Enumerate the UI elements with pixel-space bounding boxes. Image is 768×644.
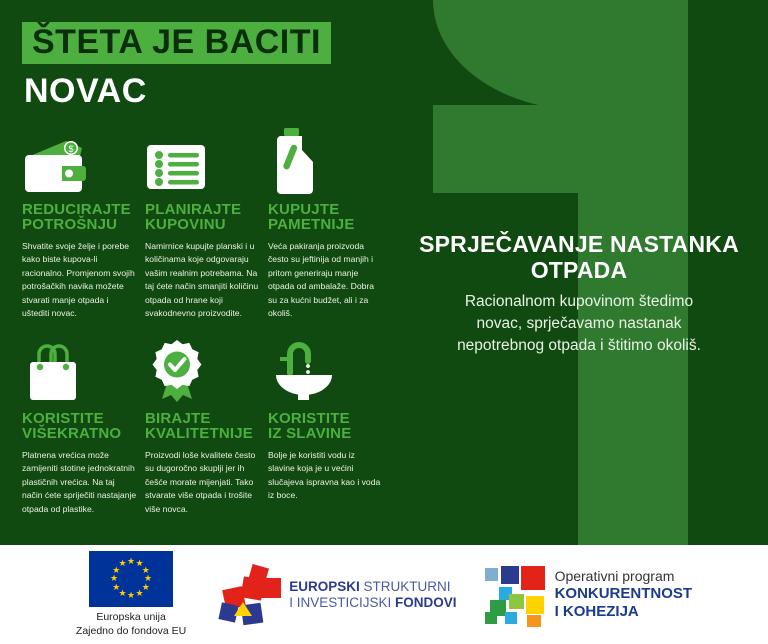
op-text-line3: I KOHEZIJA [555, 603, 693, 621]
tip-card-body: Proizvodi loše kvalitete često su dugoro… [145, 449, 260, 517]
op-square-lightblue-1 [485, 568, 498, 581]
esi-logo-text: EUROPSKI STRUKTURNI I INVESTICIJSKI FOND… [289, 579, 456, 611]
op-text-line2: KONKURENTNOST [555, 585, 693, 603]
op-logo-text: Operativni program KONKURENTNOST I KOHEZ… [555, 568, 693, 621]
tip-card-title: REDUCIRAJTE POTROŠNJU [22, 202, 137, 233]
tips-row-1: $ REDUCIRAJTE POTROŠNJU Shvatite svoje ž… [22, 128, 390, 321]
esi-funds-logo: EUROPSKI STRUKTURNI I INVESTICIJSKI FOND… [220, 566, 456, 624]
numeral-serif-shape [433, 0, 583, 110]
tote-bag-icon [22, 337, 137, 403]
checklist-icon [145, 128, 260, 194]
op-square-green-2 [485, 612, 497, 624]
esi-line2-thin: I INVESTICIJSKI [289, 595, 391, 610]
op-square-cyan-2 [505, 612, 517, 624]
faucet-sink-icon [268, 337, 383, 403]
esi-text-line2: I INVESTICIJSKI FONDOVI [289, 595, 456, 611]
right-panel-body: Racionalnom kupovinom štedimo novac, spr… [398, 291, 760, 357]
right-panel-body-line1: Racionalnom kupovinom štedimo [398, 291, 760, 313]
tip-title-line1: REDUCIRAJTE [22, 202, 137, 217]
tip-card-body: Bolje je koristiti vodu iz slavine koja … [268, 449, 383, 503]
page-title-highlight: ŠTETA JE BACITI [22, 22, 331, 64]
tip-card-body: Namirnice kupujte planski i u količinama… [145, 240, 260, 321]
esi-square-red-3 [261, 578, 281, 598]
tip-card-title: KORISTITE VIŠEKRATNO [22, 411, 137, 442]
eu-star-icon: ★ [110, 574, 119, 583]
tip-card-title: BIRAJTE KVALITETNIJE [145, 411, 260, 442]
op-square-red-1 [521, 566, 545, 590]
tip-title-line2: VIŠEKRATNO [22, 426, 137, 441]
right-panel-body-line2: novac, sprječavamo nastanak [398, 313, 760, 335]
tip-title-line2: IZ SLAVINE [268, 426, 383, 441]
eu-caption-line2: Zajedno do fondova EU [76, 625, 186, 639]
op-square-orange-1 [527, 615, 541, 627]
svg-text:$: $ [68, 144, 73, 154]
esi-line1-thin: STRUKTURNI [364, 579, 451, 594]
esi-line1-bold: EUROPSKI [289, 579, 360, 594]
tip-card-koristite-visekratno: KORISTITE VIŠEKRATNO Platnena vrećica mo… [22, 337, 137, 516]
tip-card-title: KORISTITE IZ SLAVINE [268, 411, 383, 442]
tip-title-line1: KORISTITE [268, 411, 383, 426]
footer-logo-bar: ★★★★★★★★★★★★ Europska unija Zajedno do f… [0, 545, 768, 644]
tip-title-line1: BIRAJTE [145, 411, 260, 426]
right-message-panel: SPRJEČAVANJE NASTANKA OTPADA Racionalnom… [398, 232, 760, 357]
tips-row-2: KORISTITE VIŠEKRATNO Platnena vrećica mo… [22, 337, 390, 516]
tip-card-body: Shvatite svoje želje i porebe kako biste… [22, 240, 137, 321]
numeral-foot-shape [433, 105, 588, 193]
operational-program-logo: Operativni program KONKURENTNOST I KOHEZ… [485, 566, 693, 624]
op-square-darkblue-1 [501, 566, 519, 584]
esi-text-line1: EUROPSKI STRUKTURNI [289, 579, 456, 595]
tip-title-line1: KUPUJTE [268, 202, 383, 217]
poster-header: ŠTETA JE BACITI NOVAC [22, 22, 442, 108]
eu-star-icon: ★ [112, 583, 121, 592]
jug-bottle-icon [268, 128, 383, 194]
right-panel-title-line1: SPRJEČAVANJE NASTANKA [398, 232, 760, 258]
tip-title-line2: POTROŠNJU [22, 217, 137, 232]
right-panel-title-line2: OTPADA [398, 258, 760, 284]
esi-mosaic-icon [220, 566, 282, 624]
tips-grid: $ REDUCIRAJTE POTROŠNJU Shvatite svoje ž… [22, 128, 390, 517]
eu-logo: ★★★★★★★★★★★★ Europska unija Zajedno do f… [76, 551, 186, 639]
op-square-lightgreen-1 [509, 594, 524, 609]
logo-row: ★★★★★★★★★★★★ Europska unija Zajedno do f… [76, 551, 692, 639]
infographic-poster: ŠTETA JE BACITI NOVAC $ [0, 0, 768, 644]
quality-badge-icon [145, 337, 260, 403]
op-square-yellow-1 [526, 596, 544, 614]
right-panel-body-line3: nepotrebnog otpada i štitimo okoliš. [398, 335, 760, 357]
page-title-sub: NOVAC [22, 74, 442, 108]
op-text-line1: Operativni program [555, 568, 693, 585]
tip-title-line1: PLANIRAJTE [145, 202, 260, 217]
tip-card-body: Veća pakiranja proizvoda često su jeftin… [268, 240, 383, 321]
tip-card-birajte-kvalitetnije: BIRAJTE KVALITETNIJE Proizvodi loše kval… [145, 337, 260, 516]
eu-star-icon: ★ [118, 559, 127, 568]
esi-line2-bold: FONDOVI [395, 595, 457, 610]
tip-title-line2: KVALITETNIJE [145, 426, 260, 441]
tip-title-line2: KUPOVINU [145, 217, 260, 232]
tip-title-line2: PAMETNIJE [268, 217, 383, 232]
eu-flag-icon: ★★★★★★★★★★★★ [89, 551, 173, 607]
op-mosaic-icon [485, 566, 545, 624]
tip-card-body: Platnena vrećica može zamijeniti stotine… [22, 449, 137, 517]
eu-star-icon: ★ [127, 591, 136, 600]
tip-card-reducirajte-potrosnju: $ REDUCIRAJTE POTROŠNJU Shvatite svoje ž… [22, 128, 137, 321]
eu-caption-line1: Europska unija [76, 611, 186, 625]
tip-card-title: PLANIRAJTE KUPOVINU [145, 202, 260, 233]
tip-card-kupujte-pametnije: KUPUJTE PAMETNIJE Veća pakiranja proizvo… [268, 128, 383, 321]
wallet-icon: $ [22, 128, 137, 194]
esi-star-icon [234, 602, 252, 616]
tip-card-koristite-iz-slavine: KORISTITE IZ SLAVINE Bolje je koristiti … [268, 337, 383, 516]
tip-card-planirajte-kupovinu: PLANIRAJTE KUPOVINU Namirnice kupujte pl… [145, 128, 260, 321]
tip-card-title: KUPUJTE PAMETNIJE [268, 202, 383, 233]
right-panel-title: SPRJEČAVANJE NASTANKA OTPADA [398, 232, 760, 284]
eu-star-icon: ★ [135, 589, 144, 598]
